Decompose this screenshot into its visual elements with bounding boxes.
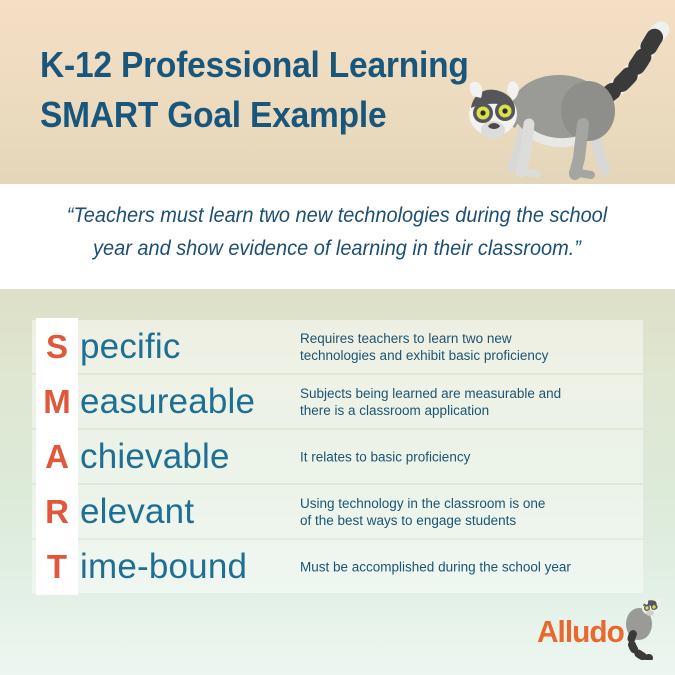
smart-letter: T [47, 550, 67, 583]
letter-badge-t: T [36, 538, 78, 595]
smart-row-relevant: R elevant Using technology in the classr… [32, 485, 643, 538]
smart-letter: R [45, 495, 69, 528]
letter-badge-s: S [36, 318, 78, 375]
smart-description: Using technology in the classroom is one… [300, 495, 640, 529]
goal-quote: “Teachers must learn two new technologie… [47, 199, 627, 265]
smart-description: Subjects being learned are measurable an… [300, 385, 640, 419]
infographic-poster: K-12 Professional Learning SMART Goal Ex… [0, 0, 675, 675]
smart-row-time-bound: T ime-bound Must be accomplished during … [32, 540, 643, 593]
smart-word: elevant [80, 493, 194, 531]
smart-row-measureable: M easureable Subjects being learned are … [32, 375, 643, 428]
letter-badge-r: R [36, 483, 78, 540]
lemur-icon [617, 598, 667, 660]
letter-badge-a: A [36, 428, 78, 485]
smart-description: Must be accomplished during the school y… [300, 558, 640, 575]
letter-badge-m: M [36, 373, 78, 430]
smart-word: pecific [80, 328, 181, 366]
smart-word: chievable [80, 438, 230, 476]
smart-description: Requires teachers to learn two new techn… [300, 330, 640, 364]
page-title: K-12 Professional Learning SMART Goal Ex… [40, 40, 477, 140]
smart-letter: A [45, 440, 69, 473]
smart-description: It relates to basic proficiency [300, 448, 640, 465]
smart-row-specific: S pecific Requires teachers to learn two… [32, 320, 643, 373]
smart-row-achievable: A chievable It relates to basic proficie… [32, 430, 643, 483]
alludo-logo: Alludo [537, 604, 662, 662]
brand-wordmark: Alludo [537, 616, 624, 647]
smart-word: easureable [80, 383, 255, 421]
smart-word: ime-bound [80, 548, 247, 586]
lemur-illustration [455, 8, 675, 184]
smart-letter: S [46, 330, 68, 363]
smart-row-list: S pecific Requires teachers to learn two… [32, 320, 643, 595]
smart-letter: M [43, 385, 71, 418]
quote-section: “Teachers must learn two new technologie… [0, 184, 675, 289]
header-section: K-12 Professional Learning SMART Goal Ex… [0, 0, 675, 184]
